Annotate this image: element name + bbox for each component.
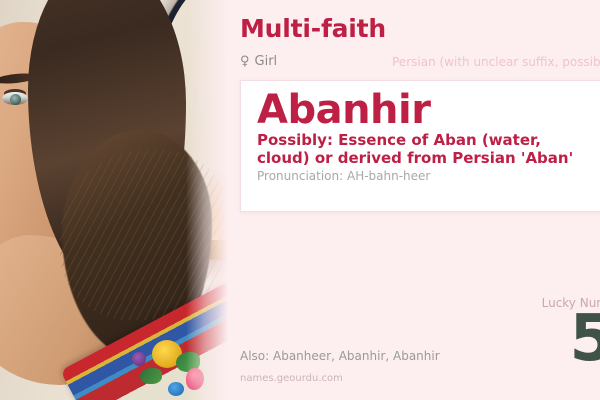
lucky-number-value: 5 [472, 312, 600, 367]
gender-badge: ♀ Girl [240, 54, 277, 69]
name-card-root: Multi-faith ♀ Girl Persian (with unclear… [0, 0, 600, 400]
site-attribution: names.geourdu.com [240, 373, 343, 384]
venus-icon: ♀ [240, 55, 250, 68]
faith-title: Multi-faith [240, 14, 386, 43]
meta-row: ♀ Girl Persian (with unclear suffix, pos… [240, 54, 600, 72]
gender-label: Girl [255, 54, 278, 69]
embroidery-flower-blue [168, 382, 184, 396]
embroidery-flower-purple [132, 352, 146, 366]
name-detail-card: Abanhir Possibly: Essence of Aban (water… [240, 80, 600, 212]
embroidery-leaf-green-2 [140, 368, 162, 384]
name-meaning: Possibly: Essence of Aban (water, cloud)… [257, 131, 600, 168]
photo-edge-fade [186, 0, 228, 400]
iris [10, 94, 21, 105]
origin-text: Persian (with unclear suffix, possibly r… [392, 55, 600, 69]
alternate-spellings: Also: Abanheer, Abanhir, Abanhir [240, 349, 440, 363]
name-title: Abanhir [257, 87, 430, 133]
content-pane: Multi-faith ♀ Girl Persian (with unclear… [228, 0, 600, 400]
portrait-photo [0, 0, 228, 400]
lucky-number-block: Lucky Num 5 [472, 296, 600, 367]
name-pronunciation: Pronunciation: AH-bahn-heer [257, 169, 430, 183]
